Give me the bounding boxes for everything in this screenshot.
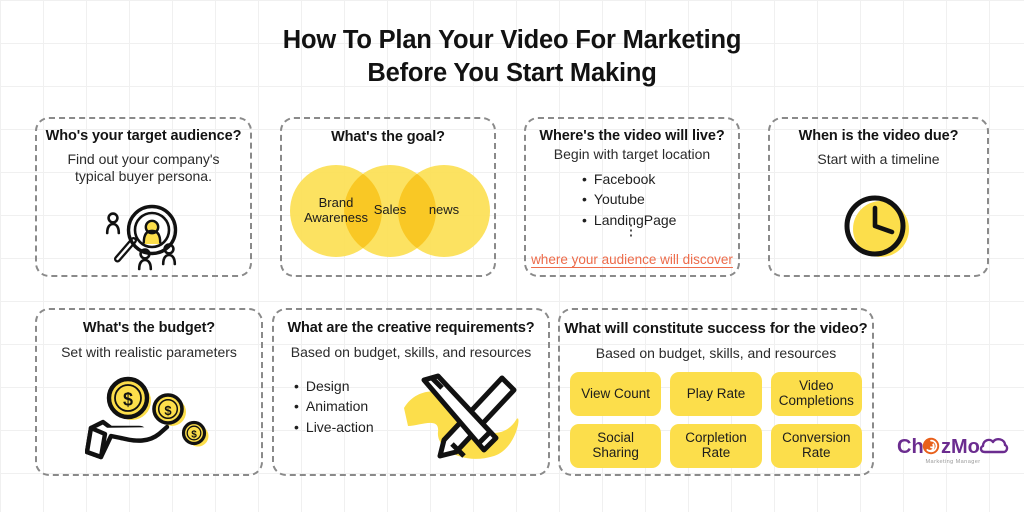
list-item: Youtube (582, 189, 676, 209)
card-heading: What will constitute success for the vid… (560, 320, 872, 337)
card-subtitle: Set with realistic parameters (37, 344, 261, 361)
metric-tag-label-line1: Corpletion (685, 430, 747, 445)
card-heading: What are the creative requirements? (274, 320, 548, 336)
metric-tag-corpletion-rate[interactable]: Corpletion Rate (670, 424, 761, 468)
metric-tag-label-line2: Rate (802, 445, 831, 460)
choozmo-logo[interactable]: Ch zMo Marketing Manager (897, 433, 1009, 469)
list-item: Live-action (294, 417, 374, 437)
pen-pencil-icon (398, 364, 530, 475)
card-subtitle-line2: typical buyer persona. (75, 168, 212, 184)
card-target-audience: Who's your target audience? Find out you… (35, 117, 252, 277)
magnifier-people-icon (105, 202, 191, 279)
clock-icon (840, 191, 918, 270)
metric-tag-label-line2: Rate (702, 445, 731, 460)
card-subtitle-line1: Find out your company's (67, 151, 219, 167)
card-heading: When is the video due? (770, 128, 987, 144)
card-success-metrics: What will constitute success for the vid… (558, 308, 874, 476)
list-item: Design (294, 376, 374, 396)
card-subtitle: Based on budget, skills, and resources (560, 345, 872, 362)
venn-label-line1: Brand (319, 195, 354, 210)
card-heading: Who's your target audience? (37, 128, 250, 144)
metric-tag-label-line1: Social (597, 430, 634, 445)
metric-tag-conversion-rate[interactable]: Conversion Rate (771, 424, 862, 468)
metric-tag-play-rate[interactable]: Play Rate (670, 372, 761, 416)
svg-text:$: $ (164, 403, 172, 418)
page-title: How To Plan Your Video For Marketing Bef… (0, 24, 1024, 90)
card-subtitle: Based on budget, skills, and resources (274, 344, 548, 361)
creative-list: Design Animation Live-action (294, 376, 374, 437)
metric-tag-label-line1: Video (799, 378, 833, 393)
svg-text:$: $ (191, 430, 197, 441)
list-item: Facebook (582, 169, 676, 189)
metric-tag-label-line2: Completions (779, 393, 854, 408)
card-subtitle: Start with a timeline (770, 151, 987, 168)
platform-list: Facebook Youtube LandingPage (582, 169, 676, 230)
metric-tag-label-line2: Sharing (592, 445, 639, 460)
metric-tag-social-sharing[interactable]: Social Sharing (570, 424, 661, 468)
metric-tag-video-completions[interactable]: Video Completions (771, 372, 862, 416)
metric-tag-label: Play Rate (687, 387, 746, 402)
card-heading: What's the goal? (282, 129, 494, 145)
metric-tag-label: Video Completions (779, 379, 854, 409)
metric-tag-view-count[interactable]: View Count (570, 372, 661, 416)
svg-text:Ch: Ch (897, 436, 924, 458)
metric-tag-label-line1: Conversion (782, 430, 850, 445)
page-title-line2: Before You Start Making (0, 57, 1024, 90)
card-creative-requirements: What are the creative requirements? Base… (272, 308, 550, 476)
card-heading: What's the budget? (37, 320, 261, 336)
card-video-location: Where's the video will live? Begin with … (524, 117, 740, 277)
hand-coins-icon: $ $ $ (85, 376, 217, 467)
list-item: Animation (294, 396, 374, 416)
metric-tag-label: View Count (581, 387, 650, 402)
card-goal: What's the goal? Brand Awareness Sales n… (280, 117, 496, 277)
audience-discover-link[interactable]: where your audience will discover (526, 252, 738, 267)
card-video-due: When is the video due? Start with a time… (768, 117, 989, 277)
venn-diagram: Brand Awareness Sales news (290, 165, 490, 257)
card-heading: Where's the video will live? (526, 128, 738, 144)
svg-text:zMo: zMo (941, 436, 980, 458)
metric-tag-label: Corpletion Rate (685, 431, 747, 461)
logo-tagline: Marketing Manager (897, 459, 1009, 465)
page-title-line1: How To Plan Your Video For Marketing (283, 26, 741, 54)
vertical-ellipsis-icon: ⋮ (526, 227, 738, 235)
venn-label-news: news (402, 203, 486, 218)
card-budget: What's the budget? Set with realistic pa… (35, 308, 263, 476)
metric-tag-grid: View Count Play Rate Video Completions S… (570, 372, 862, 468)
metric-tag-label: Conversion Rate (782, 431, 850, 461)
card-subtitle: Find out your company's typical buyer pe… (37, 151, 250, 185)
card-subtitle: Begin with target location (526, 146, 738, 163)
metric-tag-label: Social Sharing (592, 431, 639, 461)
infographic-page: How To Plan Your Video For Marketing Bef… (0, 0, 1024, 512)
svg-text:$: $ (123, 390, 133, 410)
